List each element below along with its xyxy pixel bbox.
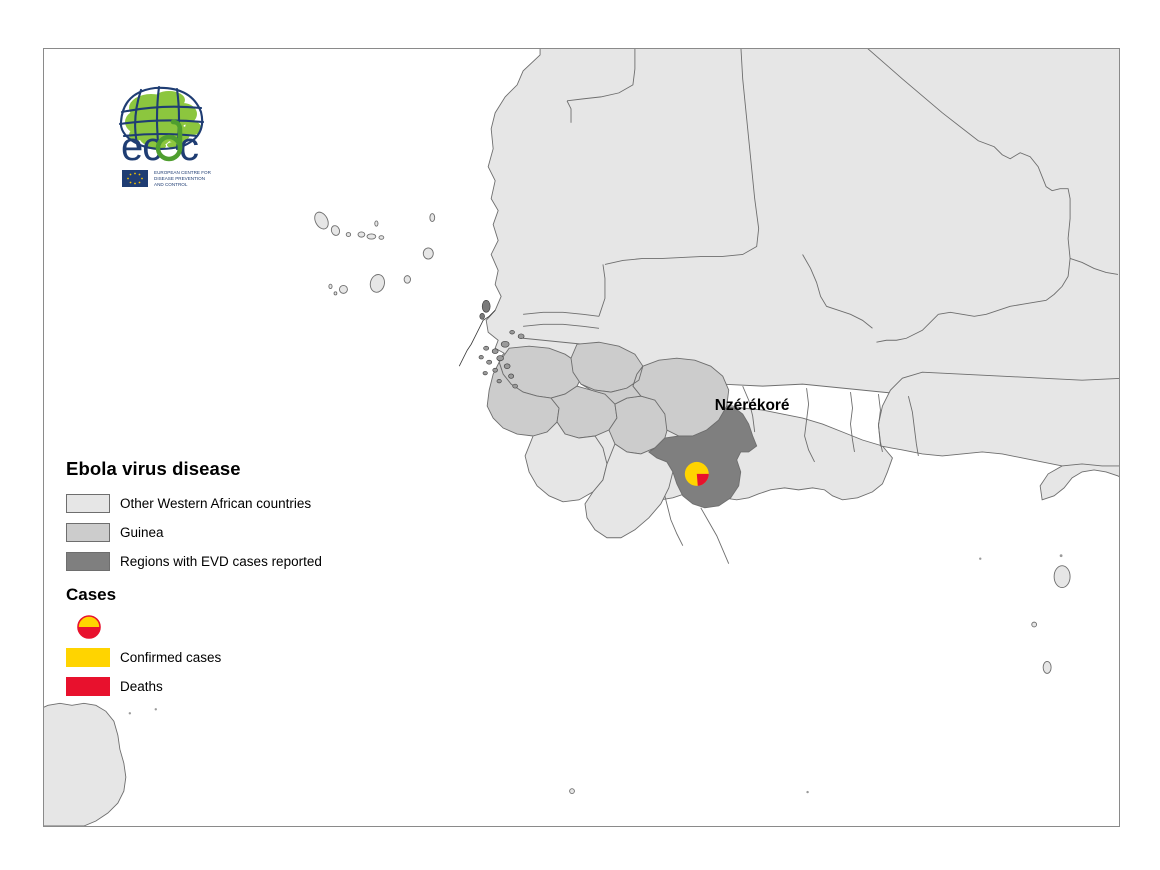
ocean-speck-5 [155,708,157,710]
map-page: Nzérékoré [0,0,1160,870]
legend-item-confirmed-cases[interactable]: Confirmed cases [66,645,446,670]
ecdc-logo: ec c [103,78,243,193]
legend-item-affected-regions[interactable]: Regions with EVD cases reported [66,549,446,574]
ecdc-organisation-name: EUROPEAN CENTRE FOR DISEASE PREVENTION A… [154,170,212,187]
island-bioko [1054,566,1070,588]
island-principe [1032,622,1037,627]
legend-swatch-confirmed-cases [66,648,110,667]
island-sao-tome [1043,661,1051,673]
legend-label-other-countries: Other Western African countries [120,496,311,511]
legend-cases-heading: Cases [66,585,446,605]
legend-item-other-countries[interactable]: Other Western African countries [66,491,446,516]
ocean-speck-1 [1060,554,1063,557]
legend-item-guinea[interactable]: Guinea [66,520,446,545]
ecdc-wordmark: ec c [121,122,198,169]
landmass-southwest-corner [44,703,126,826]
org-line-2: DISEASE PREVENTION [154,176,205,181]
map-legend: Ebola virus disease Other Western Africa… [66,458,446,703]
legend-label-guinea: Guinea [120,525,164,540]
ocean-speck-4 [129,712,131,714]
legend-label-confirmed-cases: Confirmed cases [120,650,221,665]
nzerekore-label: Nzérékoré [715,397,790,414]
eu-flag [122,170,148,187]
svg-text:ec: ec [121,125,161,169]
legend-swatch-affected-regions [66,552,110,571]
ocean-speck-3 [806,791,808,793]
legend-swatch-other-countries [66,494,110,513]
nzerekore-pie-marker[interactable] [685,462,709,486]
ocean-speck-2 [979,557,981,559]
legend-label-affected-regions: Regions with EVD cases reported [120,554,322,569]
org-line-1: EUROPEAN CENTRE FOR [154,170,212,175]
legend-title: Ebola virus disease [66,458,446,480]
legend-pie-symbol-row [76,611,446,643]
case-pie-symbol [76,614,102,640]
ecdc-logo-svg: ec c [103,78,243,193]
legend-item-deaths[interactable]: Deaths [66,674,446,699]
legend-swatch-deaths [66,677,110,696]
island-annobon [570,789,575,794]
org-line-3: AND CONTROL [154,182,188,187]
legend-swatch-guinea [66,523,110,542]
legend-label-deaths: Deaths [120,679,163,694]
